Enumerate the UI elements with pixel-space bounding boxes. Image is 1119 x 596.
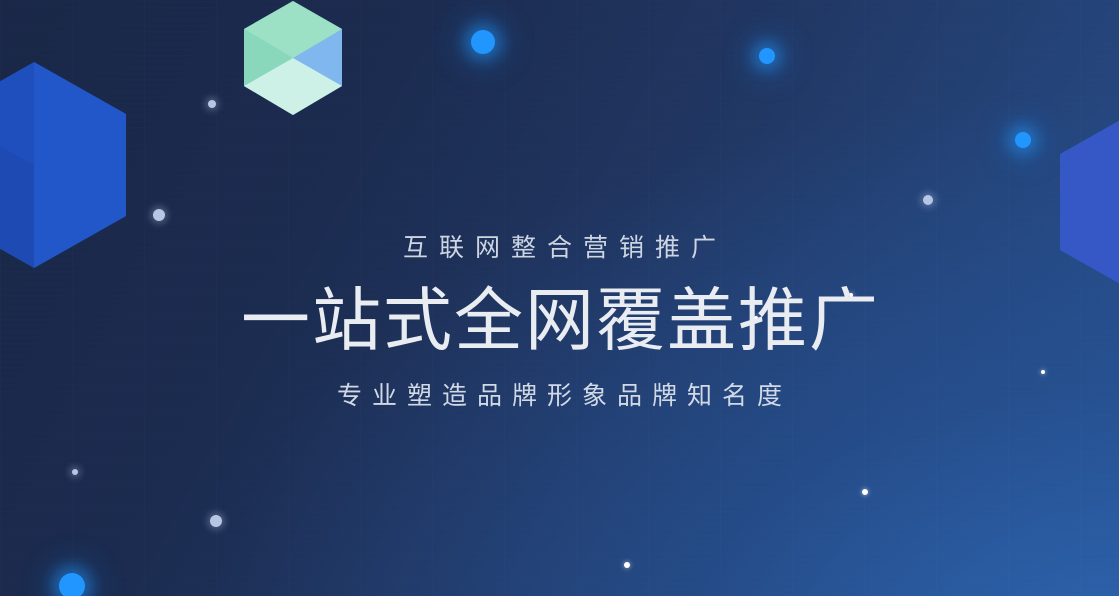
pale-dot-3 [923,195,933,205]
pale-dot-5 [72,469,78,475]
white-dot-3 [624,562,630,568]
white-dot-4 [1041,370,1045,374]
glow-dot-2 [759,48,775,64]
glow-dot-1 [471,30,495,54]
hero-banner: 互联网整合营销推广 一站式全网覆盖推广 专业塑造品牌形象品牌知名度 [0,0,1119,596]
white-dot-2 [862,489,868,495]
hero-subline: 专业塑造品牌形象品牌知名度 [0,379,1119,413]
pale-dot-2 [208,100,216,108]
hero-headline: 一站式全网覆盖推广 [0,281,1119,361]
isometric-cube-icon [244,1,342,115]
glow-dot-3 [1015,132,1031,148]
hero-eyebrow: 互联网整合营销推广 [0,231,1119,265]
pale-dot-4 [210,515,222,527]
hexagon-right-icon [1060,106,1119,298]
glow-dot-4 [59,573,85,596]
pale-dot-1 [153,209,165,221]
